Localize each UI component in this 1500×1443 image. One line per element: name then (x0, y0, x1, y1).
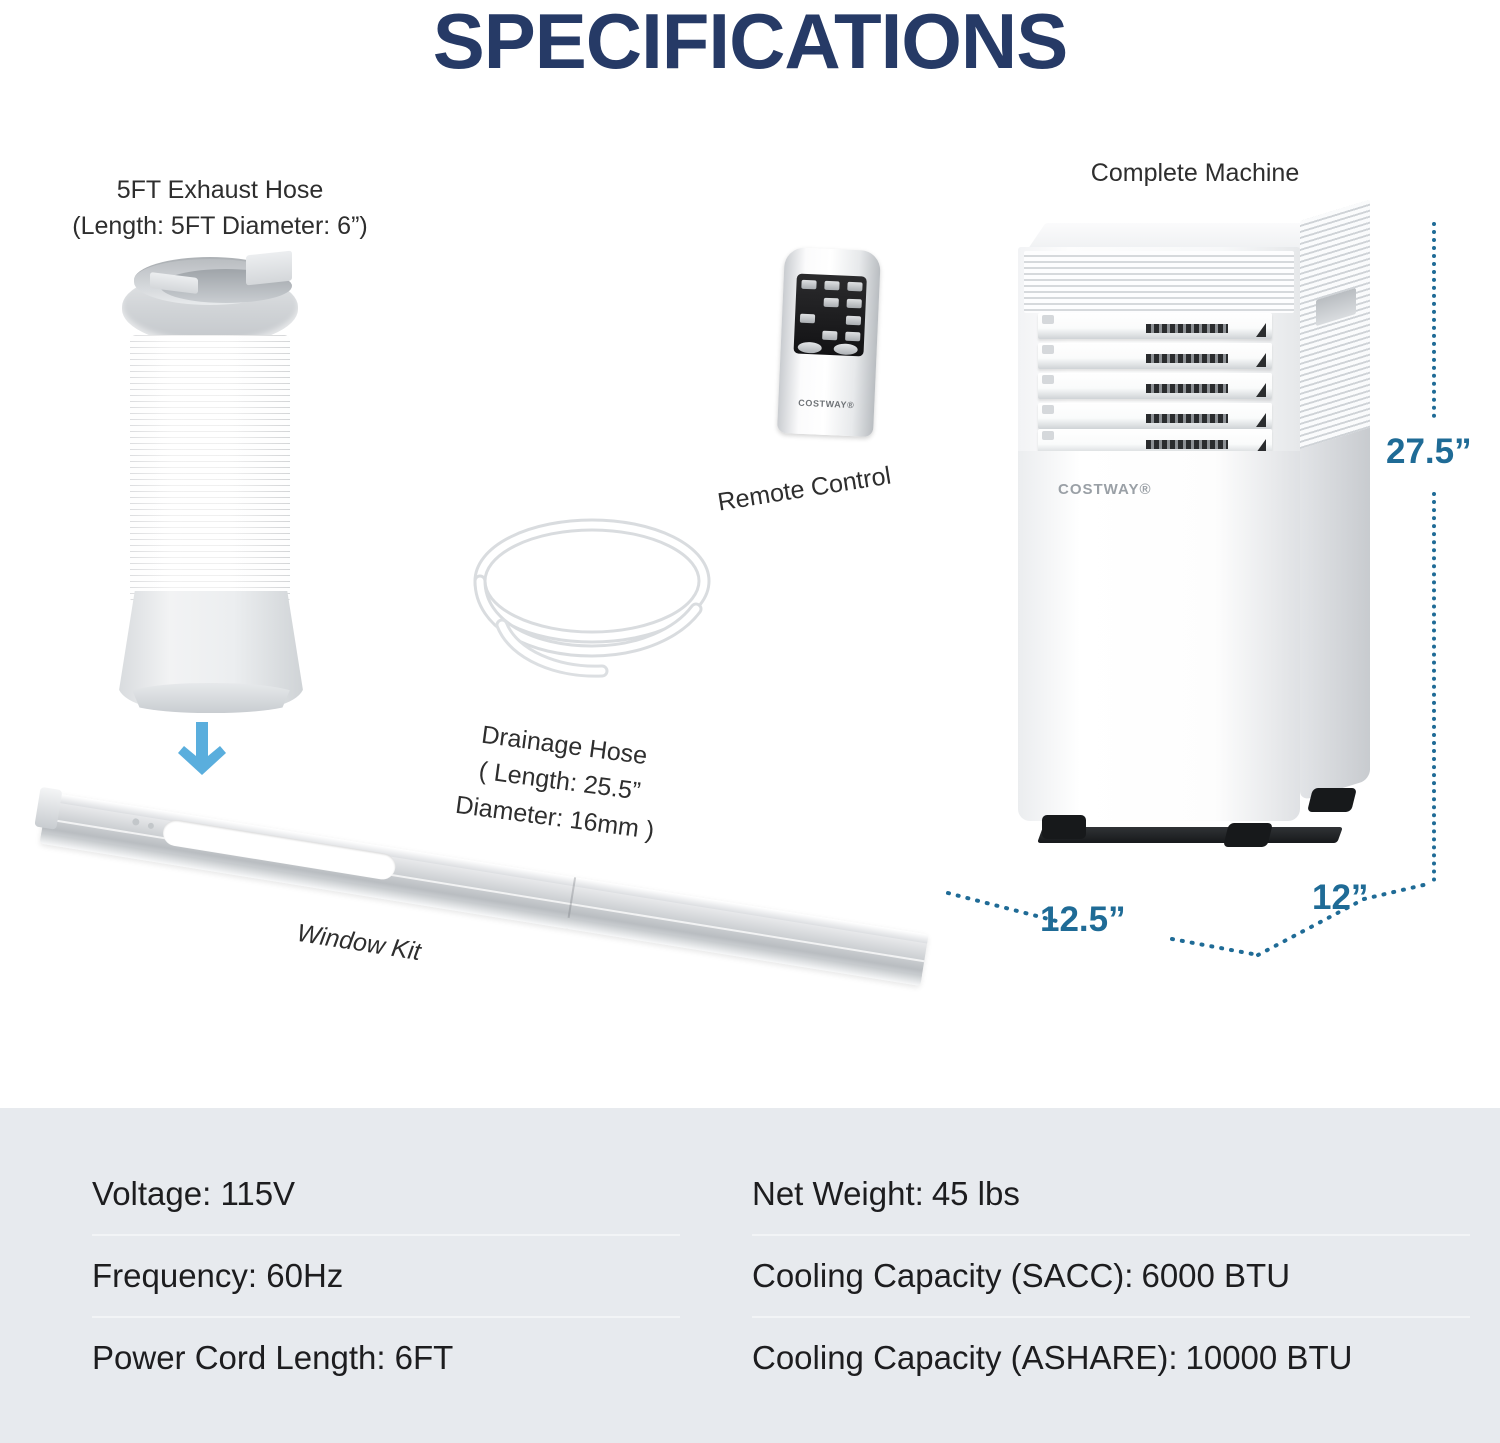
spec-net-weight-value: 45 lbs (932, 1175, 1020, 1213)
spec-row-voltage: Voltage: 115V (92, 1154, 680, 1236)
ac-body-front (1018, 451, 1300, 821)
dimension-depth-value: 12” (1312, 878, 1368, 918)
spec-cooling-ashare-label: Cooling Capacity (ASHARE): (752, 1339, 1178, 1377)
dimension-line-width-right (1172, 939, 1258, 955)
hose-corrugated-body (130, 335, 290, 603)
spec-voltage-label: Voltage: 115V (92, 1175, 295, 1213)
specification-sheet: SPECIFICATIONS 5FT Exhaust Hose (Length:… (0, 0, 1500, 1443)
remote-button-grid (798, 278, 863, 353)
ac-vent-3 (1038, 373, 1272, 399)
dimension-line-depth-end (1364, 883, 1432, 899)
spec-row-power-cord: Power Cord Length: 6FT (92, 1318, 680, 1398)
remote-button-up (824, 281, 839, 291)
spec-power-cord-label: Power Cord Length: 6FT (92, 1339, 453, 1377)
spec-frequency-label: Frequency: 60Hz (92, 1257, 343, 1295)
exhaust-hose-detail: (Length: 5FT Diameter: 6”) (10, 208, 430, 244)
ac-vent-4 (1038, 403, 1272, 429)
ac-side-handle (1316, 288, 1356, 326)
dimension-width-value: 12.5” (1040, 900, 1126, 940)
complete-machine-label: Complete Machine (1020, 155, 1370, 191)
remote-button-cool (847, 282, 862, 292)
air-conditioner-image: COSTWAY® (1018, 223, 1368, 863)
window-kit-hole-1 (132, 818, 140, 826)
spec-row-cooling-ashare: Cooling Capacity (ASHARE): 10000 BTU (752, 1318, 1470, 1398)
ac-caster-front-right (1223, 823, 1273, 847)
ac-vent-1 (1038, 313, 1272, 339)
ac-caster-rear-right (1307, 788, 1357, 812)
exhaust-hose-image (118, 253, 308, 718)
exhaust-hose-name: 5FT Exhaust Hose (10, 172, 430, 208)
remote-button-fan (846, 316, 861, 326)
remote-button-down (824, 298, 839, 308)
spec-cooling-sacc-value: 6000 BTU (1141, 1257, 1290, 1295)
spec-net-weight-label: Net Weight: (752, 1175, 924, 1213)
remote-button-timer (798, 342, 822, 354)
spec-row-cooling-sacc: Cooling Capacity (SACC): 6000 BTU (752, 1236, 1470, 1318)
page-title: SPECIFICATIONS (0, 0, 1500, 87)
ac-brand-logo: COSTWAY® (1058, 481, 1152, 498)
specifications-panel: Voltage: 115V Frequency: 60Hz Power Cord… (0, 1108, 1500, 1443)
ac-side-grille (1300, 200, 1370, 453)
remote-button-low (800, 314, 815, 324)
window-kit-hole-2 (147, 822, 154, 829)
specifications-grid: Voltage: 115V Frequency: 60Hz Power Cord… (0, 1108, 1500, 1443)
remote-button-speed (801, 280, 816, 290)
ac-vent-2 (1038, 343, 1272, 369)
spec-row-net-weight: Net Weight: 45 lbs (752, 1154, 1470, 1236)
spec-row-frequency: Frequency: 60Hz (92, 1236, 680, 1318)
ac-body-side (1300, 428, 1370, 801)
spec-cooling-ashare-value: 10000 BTU (1186, 1339, 1353, 1377)
hose-tab-right (246, 251, 292, 286)
exhaust-hose-label-block: 5FT Exhaust Hose (Length: 5FT Diameter: … (10, 172, 430, 245)
window-kit-end-cap (34, 787, 62, 830)
ac-caster-front-left (1042, 815, 1086, 839)
specifications-column-left: Voltage: 115V Frequency: 60Hz Power Cord… (0, 1108, 690, 1443)
ac-front-grille (1018, 247, 1300, 455)
remote-button-panel (793, 274, 866, 357)
hose-adapter-lip (120, 683, 302, 713)
drainage-hose-image (462, 505, 722, 685)
remote-control-label: Remote Control (715, 458, 894, 521)
specifications-column-right: Net Weight: 45 lbs Cooling Capacity (SAC… (690, 1108, 1500, 1443)
remote-button-sleep (822, 331, 837, 341)
remote-button-power (833, 343, 857, 355)
remote-button-mode (845, 332, 860, 342)
ac-top-louvers (1024, 251, 1294, 313)
dimension-line-height-upper (1432, 222, 1436, 418)
remote-control-image: COSTWAY® (777, 247, 881, 437)
window-kit-bottom-edge (40, 832, 922, 985)
spec-cooling-sacc-label: Cooling Capacity (SACC): (752, 1257, 1133, 1295)
dimension-lines-base (940, 855, 1470, 975)
dimension-height-value: 27.5” (1386, 432, 1472, 472)
remote-button-dry (847, 299, 862, 309)
dimension-line-height-lower (1432, 492, 1436, 882)
